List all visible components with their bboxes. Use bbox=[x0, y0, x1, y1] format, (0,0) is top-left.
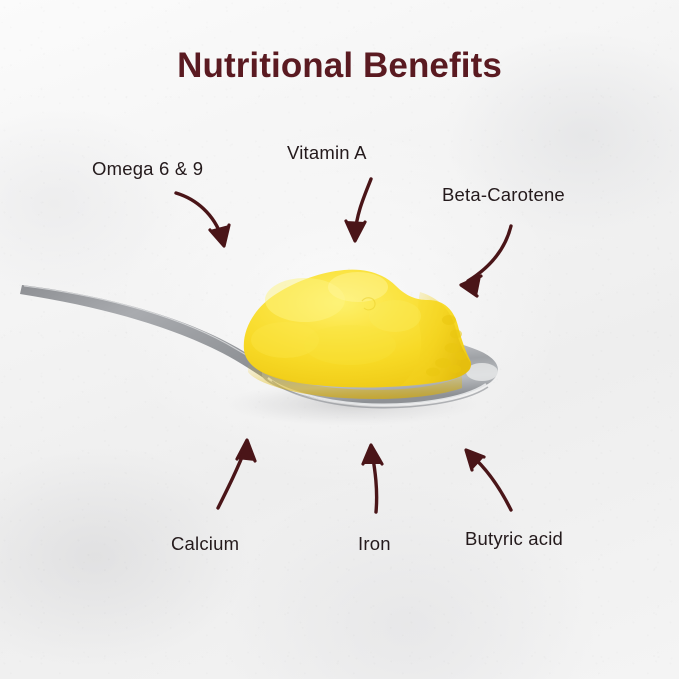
benefit-label-calcium: Calcium bbox=[171, 533, 239, 555]
benefit-label-butyric-acid: Butyric acid bbox=[465, 528, 563, 550]
page-title: Nutritional Benefits bbox=[0, 46, 679, 86]
benefit-label-beta-carotene: Beta-Carotene bbox=[442, 184, 565, 206]
benefit-label-iron: Iron bbox=[358, 533, 391, 555]
benefit-label-vitamin-a: Vitamin A bbox=[287, 142, 367, 164]
spoon-of-ghee-image bbox=[0, 0, 679, 679]
spoon-illustration bbox=[0, 0, 679, 679]
benefit-label-omega-6-9: Omega 6 & 9 bbox=[92, 158, 203, 180]
spoon-handle bbox=[20, 285, 282, 386]
infographic-canvas: Omega 6 & 9 Vitamin A Beta-Carotene Calc… bbox=[0, 0, 679, 679]
